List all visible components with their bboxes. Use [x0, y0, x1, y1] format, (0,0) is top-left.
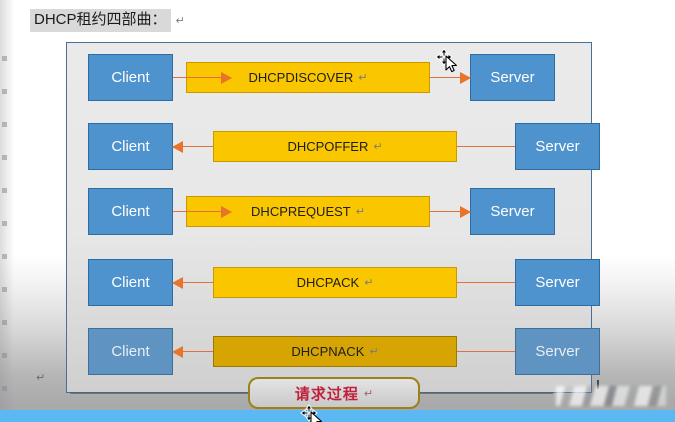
client-node[interactable]: Client	[88, 123, 173, 170]
diagram-row: Client DHCPREQUEST↵ Server	[70, 188, 588, 235]
message-box[interactable]: DHCPOFFER↵	[213, 131, 457, 162]
message-label: DHCPNACK	[291, 344, 364, 359]
ruler-tick	[2, 89, 7, 94]
footer-rule-left	[70, 392, 248, 394]
document-title-line: DHCP租约四部曲： ↵	[30, 9, 185, 32]
paragraph-mark-icon: ↵	[373, 140, 382, 153]
connector-arrow-right	[173, 72, 231, 84]
ruler-tick	[2, 56, 7, 61]
connector-line-plain	[457, 277, 515, 289]
client-node[interactable]: Client	[88, 54, 173, 101]
footer-callout-box[interactable]: 请求过程↵	[248, 377, 420, 409]
arrowhead-left-icon	[172, 346, 183, 358]
diagram-row: Client DHCPOFFER↵ Server	[70, 123, 588, 170]
connector-arrow-left	[173, 346, 213, 358]
server-node[interactable]: Server	[470, 188, 555, 235]
paragraph-mark-icon: ↵	[356, 205, 365, 218]
paragraph-mark-icon: ↵	[364, 276, 373, 289]
connector-arrow-right	[430, 72, 470, 84]
paragraph-mark-icon: ↵	[358, 71, 367, 84]
paragraph-mark-icon: ↵	[176, 14, 185, 27]
screenshot-canvas: DHCP租约四部曲： ↵ Client DHCPDISCOVER↵	[0, 0, 675, 422]
connector-arrow-left	[173, 141, 213, 153]
message-box[interactable]: DHCPNACK↵	[213, 336, 457, 367]
page-left-shadow	[0, 0, 14, 410]
connector-line	[457, 351, 515, 352]
ruler-tick	[2, 155, 7, 160]
arrowhead-left-icon	[172, 277, 183, 289]
diagram-row: Client DHCPDISCOVER↵ Server	[70, 54, 588, 101]
ruler-tick	[2, 320, 7, 325]
message-label: DHCPDISCOVER	[249, 70, 354, 85]
arrowhead-right-icon	[460, 72, 471, 84]
connector-arrow-left	[173, 277, 213, 289]
diagram-inner: Client DHCPDISCOVER↵ Server Client	[70, 46, 588, 389]
paragraph-mark-icon: ↵	[364, 387, 373, 400]
connector-arrow-right	[430, 206, 470, 218]
message-label: DHCPACK	[297, 275, 360, 290]
arrowhead-left-icon	[172, 141, 183, 153]
diagram-row: Client DHCPNACK↵ Server	[70, 328, 588, 375]
server-node[interactable]: Server	[515, 123, 600, 170]
client-node[interactable]: Client	[88, 259, 173, 306]
server-node[interactable]: Server	[515, 328, 600, 375]
paragraph-mark-icon: ↵	[369, 345, 378, 358]
diagram-row: Client DHCPACK↵ Server	[70, 259, 588, 306]
ruler-tick	[2, 122, 7, 127]
client-node[interactable]: Client	[88, 188, 173, 235]
ruler-tick	[2, 386, 7, 391]
diagram-frame[interactable]: Client DHCPDISCOVER↵ Server Client	[66, 42, 592, 393]
footer-rule-right	[420, 392, 553, 394]
ruler-tick	[2, 188, 7, 193]
ruler-tick	[2, 287, 7, 292]
connector-arrow-right	[173, 206, 231, 218]
message-box[interactable]: DHCPACK↵	[213, 267, 457, 298]
server-node[interactable]: Server	[470, 54, 555, 101]
blurred-watermark	[556, 386, 666, 406]
ruler-tick	[2, 353, 7, 358]
arrowhead-right-icon	[460, 206, 471, 218]
message-label: DHCPOFFER	[287, 139, 368, 154]
server-node[interactable]: Server	[515, 259, 600, 306]
connector-line-plain	[457, 141, 515, 153]
paragraph-mark-icon: ↵	[36, 371, 45, 384]
ruler-tick	[2, 254, 7, 259]
arrowhead-right-icon	[221, 206, 232, 218]
client-node[interactable]: Client	[88, 328, 173, 375]
footer-callout-label: 请求过程	[295, 383, 359, 404]
message-label: DHCPREQUEST	[251, 204, 351, 219]
ruler-tick	[2, 221, 7, 226]
arrowhead-right-icon	[221, 72, 232, 84]
page-title[interactable]: DHCP租约四部曲：	[30, 9, 171, 32]
connector-line	[457, 146, 515, 147]
bottom-app-bar	[0, 410, 675, 422]
connector-line	[457, 282, 515, 283]
connector-line-plain	[457, 346, 515, 358]
